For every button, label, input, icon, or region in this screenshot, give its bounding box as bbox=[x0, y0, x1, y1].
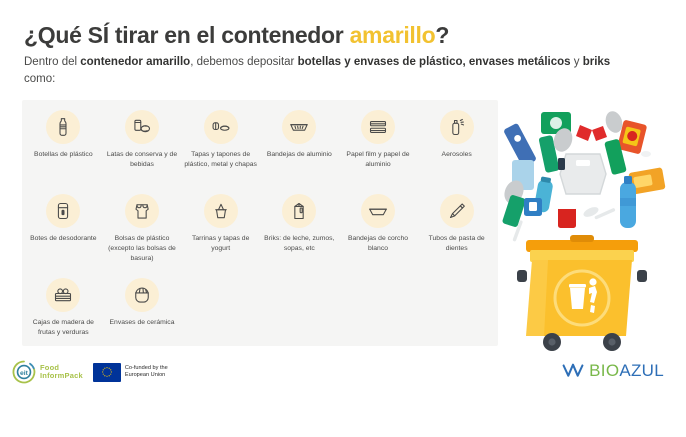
falling-packaging-waste bbox=[501, 109, 666, 242]
item-label: Bolsas de plástico (excepto las bolsas d… bbox=[105, 234, 179, 264]
carton-brick-icon bbox=[282, 194, 316, 228]
eit-logo-line2: InformPack bbox=[40, 372, 83, 380]
item-label: Tarrinas y tapas de yogurt bbox=[184, 234, 258, 254]
item-cell: Cajas de madera de frutas y verduras bbox=[24, 274, 103, 356]
bioazul-part1: BIO bbox=[589, 361, 619, 380]
eit-logo-text: Food InformPack bbox=[40, 364, 83, 380]
bioazul-part2: AZUL bbox=[619, 361, 664, 380]
cork-tray-icon bbox=[361, 194, 395, 228]
item-label: Latas de conserva y de bebidas bbox=[105, 150, 179, 170]
item-cell: Papel film y papel de aluminio bbox=[339, 106, 418, 188]
header: ¿Qué SÍ tirar en el contenedor amarillo?… bbox=[24, 22, 650, 88]
title-text-end: ? bbox=[435, 22, 449, 48]
item-cell: Bolsas de plástico (excepto las bolsas d… bbox=[103, 190, 182, 272]
ceramic-container-icon bbox=[125, 278, 159, 312]
item-label: Cajas de madera de frutas y verduras bbox=[26, 318, 100, 338]
svg-text:eit: eit bbox=[20, 370, 29, 377]
eit-circle-logo: eit bbox=[12, 360, 36, 384]
subtitle-seg-4: como: bbox=[24, 73, 55, 85]
item-cell: Botes de desodorante bbox=[24, 190, 103, 272]
plastic-bag-icon bbox=[125, 194, 159, 228]
item-label: Briks: de leche, zumos, sopas, etc bbox=[262, 234, 336, 254]
yellow-recycling-bin bbox=[517, 235, 647, 351]
aerosol-icon bbox=[440, 110, 474, 144]
bioazul-wave-icon bbox=[562, 362, 584, 380]
item-label: Bandejas de aluminio bbox=[267, 150, 332, 160]
items-grid: Botellas de plástico Latas de conserva y… bbox=[22, 100, 498, 356]
title-text-main: ¿Qué SÍ tirar en el contenedor bbox=[24, 22, 350, 48]
eu-funding-text: Co-funded by the European Union bbox=[125, 365, 168, 380]
items-panel: Botellas de plástico Latas de conserva y… bbox=[22, 100, 498, 346]
caps-and-lids-icon bbox=[204, 110, 238, 144]
item-cell: Briks: de leche, zumos, sopas, etc bbox=[260, 190, 339, 272]
cans-icon bbox=[125, 110, 159, 144]
subtitle-seg-1: Dentro del bbox=[24, 56, 80, 68]
plastic-bottle-icon bbox=[46, 110, 80, 144]
deodorant-icon bbox=[46, 194, 80, 228]
aluminium-tray-icon bbox=[282, 110, 316, 144]
item-cell: Latas de conserva y de bebidas bbox=[103, 106, 182, 188]
bioazul-wordmark: BIOAZUL bbox=[589, 361, 664, 381]
recycling-illustration bbox=[496, 92, 686, 354]
eu-funding-line2: European Union bbox=[125, 372, 168, 379]
subtitle-bold-2: botellas y envases de plástico, envases … bbox=[298, 56, 571, 68]
eu-funding-logo: Co-funded by the European Union bbox=[93, 363, 168, 382]
item-cell: Botellas de plástico bbox=[24, 106, 103, 188]
subtitle-bold-3: briks bbox=[583, 56, 611, 68]
item-cell: Tarrinas y tapas de yogurt bbox=[181, 190, 260, 272]
eit-food-informpack-logo: eit Food InformPack bbox=[12, 360, 83, 384]
item-cell: Tapas y tapones de plástico, metal y cha… bbox=[181, 106, 260, 188]
title-accent-word: amarillo bbox=[350, 22, 436, 48]
item-cell: Bandejas de aluminio bbox=[260, 106, 339, 188]
item-label: Aerosoles bbox=[442, 150, 472, 160]
eu-flag-icon bbox=[93, 363, 121, 382]
wooden-crate-icon bbox=[46, 278, 80, 312]
yogurt-tub-icon bbox=[204, 194, 238, 228]
eu-funding-line1: Co-funded by the bbox=[125, 365, 168, 372]
item-cell: Tubos de pasta de dientes bbox=[417, 190, 496, 272]
item-label: Botellas de plástico bbox=[34, 150, 93, 160]
item-label: Tubos de pasta de dientes bbox=[420, 234, 494, 254]
item-label: Botes de desodorante bbox=[30, 234, 97, 244]
page-subtitle: Dentro del contenedor amarillo, debemos … bbox=[24, 54, 624, 87]
item-cell: Aerosoles bbox=[417, 106, 496, 188]
footer-left-logos: eit Food InformPack Co-funded by the Eur… bbox=[12, 360, 168, 384]
subtitle-seg-3: y bbox=[571, 56, 583, 68]
item-cell: Bandejas de corcho blanco bbox=[339, 190, 418, 272]
bioazul-logo: BIOAZUL bbox=[562, 361, 664, 381]
item-label: Bandejas de corcho blanco bbox=[341, 234, 415, 254]
item-label: Tapas y tapones de plástico, metal y cha… bbox=[184, 150, 258, 170]
subtitle-bold-1: contenedor amarillo bbox=[80, 56, 190, 68]
toothpaste-tube-icon bbox=[440, 194, 474, 228]
item-label: Papel film y papel de aluminio bbox=[341, 150, 415, 170]
item-cell: Envases de cerámica bbox=[103, 274, 182, 356]
page-title: ¿Qué SÍ tirar en el contenedor amarillo? bbox=[24, 22, 650, 48]
item-label: Envases de cerámica bbox=[110, 318, 175, 328]
film-and-foil-icon bbox=[361, 110, 395, 144]
subtitle-seg-2: , debemos depositar bbox=[190, 56, 297, 68]
